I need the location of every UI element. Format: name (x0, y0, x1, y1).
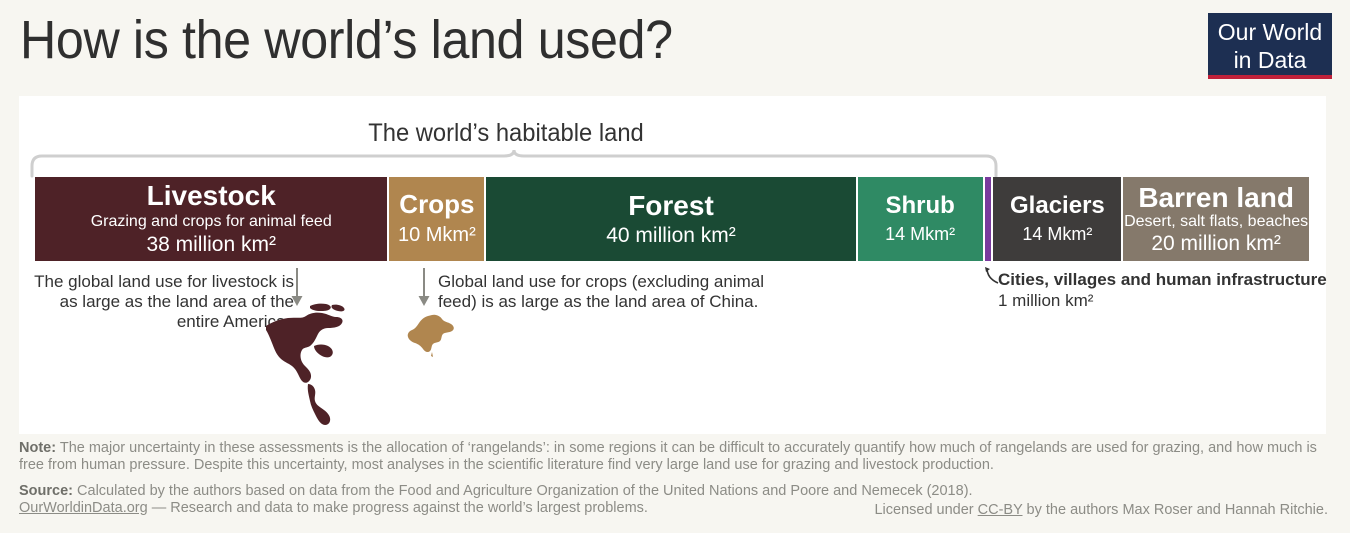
footer-note-text: The major uncertainty in these assessmen… (19, 440, 1317, 473)
logo-line-1: Our World (1208, 18, 1332, 46)
footer-source-line: Source: Calculated by the authors based … (19, 483, 1339, 500)
bar-segment-value: 14 Mkm² (1022, 220, 1092, 248)
curved-pointer-cities-icon (984, 266, 1000, 288)
footer-license-suffix: by the authors Max Roser and Hannah Ritc… (1023, 502, 1328, 518)
bar-segment-value: 10 Mkm² (398, 220, 476, 250)
bar-segment-glaciers[interactable]: Glaciers14 Mkm² (993, 177, 1123, 261)
page-title: How is the world’s land used? (20, 8, 673, 72)
annotation-cities: Cities, villages and human infrastructur… (998, 269, 1318, 311)
bar-segment-value: 38 million km² (146, 231, 276, 258)
footer: Note: The major uncertainty in these ass… (19, 440, 1339, 516)
bar-segment-value: 20 million km² (1151, 231, 1281, 257)
footer-license: Licensed under CC-BY by the authors Max … (874, 502, 1328, 519)
bar-segment-subtitle: Desert, salt flats, beaches (1124, 213, 1308, 231)
bar-segment-barren[interactable]: Barren landDesert, salt flats, beaches20… (1123, 177, 1309, 261)
annotation-crops: Global land use for crops (excluding ani… (438, 272, 768, 312)
footer-source-label: Source: (19, 483, 73, 499)
footer-tagline: — Research and data to make progress aga… (152, 500, 648, 516)
annotation-cities-heading: Cities, villages and human infrastructur… (998, 269, 1318, 290)
footer-source: Source: Calculated by the authors based … (19, 483, 1339, 516)
footer-note: Note: The major uncertainty in these ass… (19, 440, 1339, 473)
footer-note-label: Note: (19, 440, 56, 456)
bar-segment-name: Shrub (885, 191, 954, 220)
bar-segment-name: Forest (628, 190, 714, 222)
habitable-land-bracket (30, 150, 998, 178)
logo-line-2: in Data (1208, 46, 1332, 74)
footer-license-link[interactable]: CC-BY (978, 502, 1023, 518)
footer-source-text: Calculated by the authors based on data … (77, 483, 973, 499)
infographic-root: How is the world’s land used? Our World … (0, 0, 1350, 533)
bar-segment-subtitle: Grazing and crops for animal feed (91, 212, 332, 231)
bar-segment-forest[interactable]: Forest40 million km² (486, 177, 857, 261)
footer-site-link[interactable]: OurWorldinData.org (19, 500, 148, 516)
bar-segment-cities[interactable] (985, 177, 994, 261)
china-map-silhouette-icon (402, 312, 458, 360)
arrow-crops-icon (417, 268, 431, 308)
bar-segment-name: Livestock (147, 180, 276, 212)
footer-license-prefix: Licensed under (874, 502, 977, 518)
bar-segment-value: 14 Mkm² (885, 220, 955, 248)
bar-segment-name: Barren land (1138, 182, 1294, 213)
annotation-cities-value: 1 million km² (998, 290, 1318, 311)
bar-segment-crops[interactable]: Crops10 Mkm² (389, 177, 486, 261)
bar-segment-name: Glaciers (1010, 191, 1105, 220)
bar-segment-value: 40 million km² (606, 222, 736, 249)
habitable-land-label: The world’s habitable land (43, 119, 968, 148)
land-use-stacked-bar: LivestockGrazing and crops for animal fe… (35, 177, 1309, 261)
americas-map-silhouette-icon (258, 300, 350, 428)
bar-segment-livestock[interactable]: LivestockGrazing and crops for animal fe… (35, 177, 389, 261)
our-world-in-data-logo[interactable]: Our World in Data (1208, 13, 1332, 79)
bar-segment-shrub[interactable]: Shrub14 Mkm² (858, 177, 985, 261)
annotation-livestock: The global land use for livestock is as … (32, 272, 294, 332)
bar-segment-name: Crops (399, 189, 474, 220)
